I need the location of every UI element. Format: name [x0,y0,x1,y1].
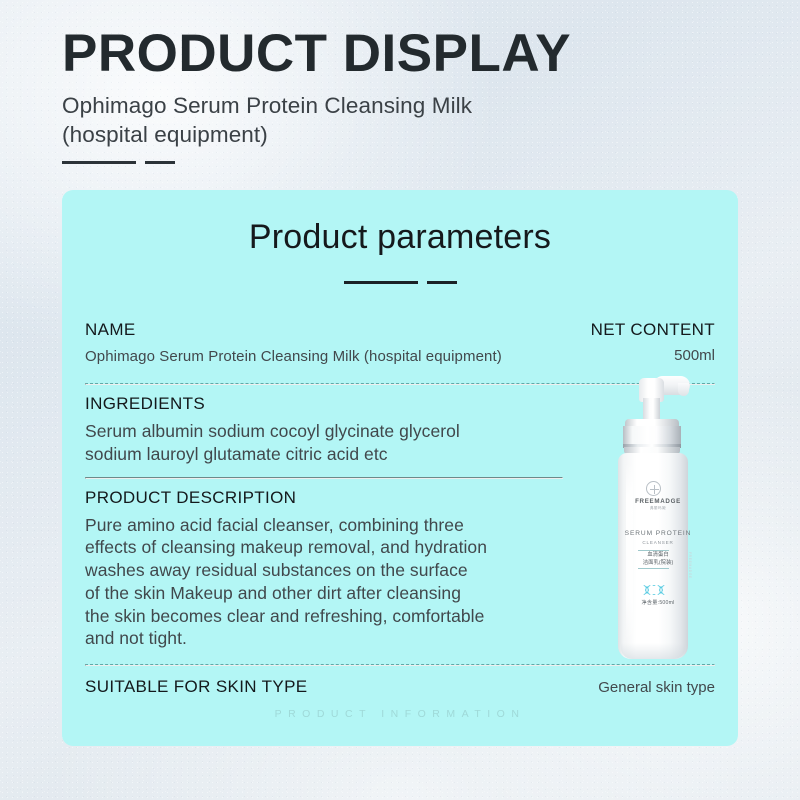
description-line-2: effects of cleansing makeup removal, and… [85,536,563,559]
description-line-1: Pure amino acid facial cleanser, combini… [85,514,563,537]
name-label: NAME [85,320,563,340]
ingredients-line-1: Serum albumin sodium cocoyl glycinate gl… [85,420,563,443]
description-label: PRODUCT DESCRIPTION [85,488,563,508]
bottle-product-type-en: CLEANSER [612,540,704,545]
bottle-volume-text: 净含量:500ml [612,599,704,606]
row-name: NAME Ophimago Serum Protein Cleansing Mi… [85,308,715,365]
page-header: PRODUCT DISPLAY Ophimago Serum Protein C… [62,26,571,164]
bottle-brand-name-cn: 弗丽玛姬 [612,506,704,511]
page-subtitle-line-2: (hospital equipment) [62,120,571,149]
description-text-column: PRODUCT DESCRIPTION Pure amino acid faci… [85,488,563,651]
bottle-label-rule-bottom [638,568,669,569]
net-content-label: NET CONTENT [591,320,715,340]
description-line-3: washes away residual substances on the s… [85,559,563,582]
ingredients-label: INGREDIENTS [85,394,563,414]
page-title: PRODUCT DISPLAY [62,26,571,82]
product-display-page: PRODUCT DISPLAY Ophimago Serum Protein C… [0,0,800,800]
bottle-product-name-en: SERUM PROTEIN [612,530,704,537]
header-divider-segment-long [62,161,136,164]
row-skin-type: SUITABLE FOR SKIN TYPE General skin type [85,666,715,697]
card-title-divider [62,281,738,284]
description-line-6: and not tight. [85,627,563,650]
bottle-label-rule-top [638,550,669,551]
card-title: Product parameters [62,218,738,257]
dna-helix-icon [640,584,668,596]
skin-type-value-cell: General skin type [598,679,715,696]
card-divider-segment-long [344,281,418,284]
bottle-brand-name: FREEMADGE [612,498,704,505]
bottle-side-text: FREEMADGE [688,552,692,579]
product-bottle-image: FREEMADGE 弗丽玛姬 SERUM PROTEIN CLEANSER 血清… [612,376,704,660]
skin-type-value: General skin type [598,679,715,696]
ingredients-value: Serum albumin sodium cocoyl glycinate gl… [85,420,563,466]
page-subtitle-line-1: Ophimago Serum Protein Cleansing Milk [62,91,571,120]
description-line-4: of the skin Makeup and other dirt after … [85,582,563,605]
brand-monogram-icon [646,481,661,496]
net-content-cell: NET CONTENT 500ml [591,320,715,364]
ingredients-line-2: sodium lauroyl glutamate citric acid etc [85,443,563,466]
name-value: Ophimago Serum Protein Cleansing Milk (h… [85,348,563,365]
name-text-column: NAME Ophimago Serum Protein Cleansing Mi… [85,320,563,365]
description-value: Pure amino acid facial cleanser, combini… [85,514,563,651]
header-divider [62,161,571,164]
description-line-5: the skin becomes clear and refreshing, c… [85,605,563,628]
card-divider-segment-short [427,281,457,284]
net-content-value: 500ml [591,347,715,364]
card-watermark: PRODUCT INFORMATION [62,708,738,720]
page-subtitle: Ophimago Serum Protein Cleansing Milk (h… [62,91,571,150]
ingredients-text-column: INGREDIENTS Serum albumin sodium cocoyl … [85,394,563,479]
header-divider-segment-short [145,161,175,164]
